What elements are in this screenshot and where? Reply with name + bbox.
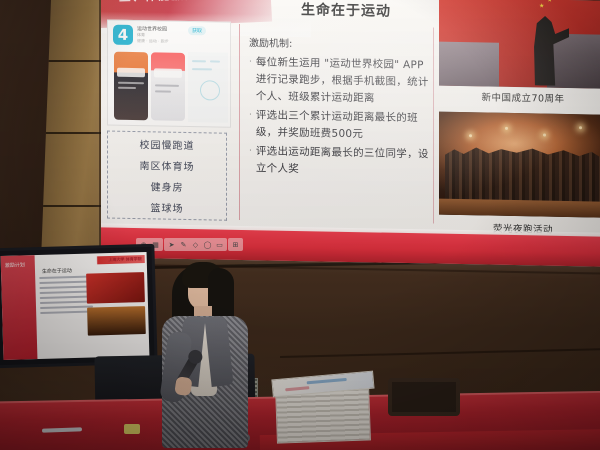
bullet-text: 评选出运动距离最长的三位同学，设立个人奖 [256, 143, 429, 180]
photo-caption: 新中国成立70周年 [439, 89, 600, 106]
building-left [439, 42, 499, 87]
more-options-icon[interactable]: ⊞ [231, 240, 240, 249]
app-store-screenshot: 4 运动世界校园 体育 健康 · 运动 · 跑步 获取 [107, 20, 231, 128]
bullet-marker: · [249, 54, 252, 105]
monitor-photo-flag [86, 272, 145, 304]
app-progress-ring [200, 80, 220, 100]
slide-divider-left [239, 24, 240, 220]
small-object [124, 424, 140, 434]
night-run-photo [439, 112, 600, 218]
eraser-icon[interactable]: ◇ [191, 240, 200, 249]
chair [388, 378, 460, 416]
app-phone-preview-2 [151, 52, 185, 121]
zoom-icon[interactable]: ◯ [203, 240, 212, 249]
laser-pointer-icon[interactable]: ➤ [167, 240, 176, 249]
app-logo-icon: 4 [113, 25, 133, 45]
bullets-heading: 激励机制: [249, 34, 429, 52]
bullet-item: · 评选出运动距离最长的三位同学，设立个人奖 [249, 143, 429, 180]
confidence-monitor: 激励计划 上海大学 体育学院 生命在于运动 [0, 244, 158, 368]
screen-icon[interactable]: ▭ [215, 240, 224, 249]
slide-title: 生命在于运动 [256, 0, 436, 22]
venue-item: 校园慢跑道 [140, 136, 195, 152]
slide-banner-text: 三、体能激励计划 [118, 0, 269, 5]
venue-list-box: 校园慢跑道 南区体育场 健身房 篮球场 [107, 131, 227, 221]
monitor-slide-title: 生命在于运动 [42, 267, 72, 275]
bullet-text: 评选出三个累计运动距离最长的班级，并奖励班费500元 [256, 107, 429, 144]
bullet-text: 每位新生运用 "运动世界校园" APP进行记录跑步，根据手机截图，统计个人、班级… [256, 54, 429, 108]
monitor-slide-header: 上海大学 体育学院 [37, 255, 145, 266]
monitor-slide-sidebar: 激励计划 [1, 255, 37, 360]
bullet-marker: · [249, 143, 252, 177]
slide-divider-right [433, 28, 434, 224]
monitor-sidebar-label: 激励计划 [5, 261, 25, 269]
paper-stack [275, 384, 371, 443]
toolbar-group-more[interactable]: ⊞ [228, 238, 243, 251]
monitor-header-mark: 上海大学 体育学院 [108, 256, 142, 263]
presenter [160, 258, 252, 450]
app-get-button: 获取 [188, 26, 206, 35]
flag-photo: ★ ★ ★ ★ ★ [439, 0, 600, 89]
bullet-marker: · [249, 107, 252, 141]
bullet-item: · 每位新生运用 "运动世界校园" APP进行记录跑步，根据手机截图，统计个人、… [249, 54, 429, 108]
pen-icon[interactable]: ✎ [179, 240, 188, 249]
toolbar-group-tools[interactable]: ➤ ✎ ◇ ◯ ▭ [164, 238, 227, 251]
app-phone-preview-1 [114, 52, 148, 121]
bullet-item: · 评选出三个累计运动距离最长的班级，并奖励班费500元 [249, 107, 429, 144]
road [439, 199, 600, 218]
venue-item: 篮球场 [151, 199, 184, 215]
app-meta-label: 健康 · 运动 · 跑步 [137, 38, 169, 45]
monitor-slide-text [39, 276, 93, 317]
slide-bullet-column: 激励机制: · 每位新生运用 "运动世界校园" APP进行记录跑步，根据手机截图… [249, 34, 429, 182]
monitor-slide: 激励计划 上海大学 体育学院 生命在于运动 [1, 252, 150, 360]
lecture-hall-photo: 三、体能激励计划 生命在于运动 4 运动世界校园 体育 健康 · 运动 · 跑步… [0, 0, 600, 450]
venue-item: 健身房 [151, 178, 184, 194]
monitor-photo-nightrun [87, 306, 146, 336]
venue-item: 南区体育场 [140, 157, 195, 173]
